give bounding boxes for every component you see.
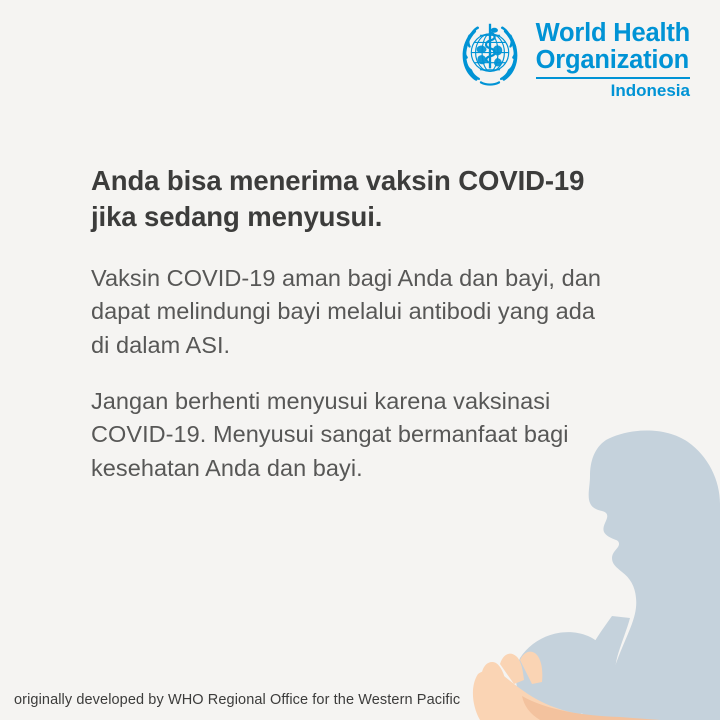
hand-fingers <box>482 652 542 688</box>
body-paragraph-1: Vaksin COVID-19 aman bagi Anda dan bayi,… <box>91 262 603 362</box>
who-emblem-icon <box>454 18 526 90</box>
baby-head <box>516 632 612 717</box>
footer-credit: originally developed by WHO Regional Off… <box>14 692 460 708</box>
who-covid-breastfeeding-infographic: { "colors": { "background": "#f5f4f2", "… <box>0 0 720 720</box>
who-name-line-1: World Health <box>536 20 690 47</box>
logo-divider <box>536 77 690 79</box>
cradling-hand <box>473 670 660 720</box>
body-paragraph-2: Jangan berhenti menyusui karena vaksinas… <box>91 385 603 485</box>
main-content: Anda bisa menerima vaksin COVID-19 jika … <box>91 163 611 485</box>
who-country-label: Indonesia <box>536 82 690 101</box>
who-logo: World Health Organization Indonesia <box>454 18 690 101</box>
who-name-line-2: Organization <box>536 47 690 74</box>
page-headline: Anda bisa menerima vaksin COVID-19 jika … <box>91 163 596 235</box>
who-logo-text: World Health Organization Indonesia <box>536 18 690 101</box>
hand-shadow <box>522 696 660 720</box>
mother-torso-curve <box>580 616 631 720</box>
